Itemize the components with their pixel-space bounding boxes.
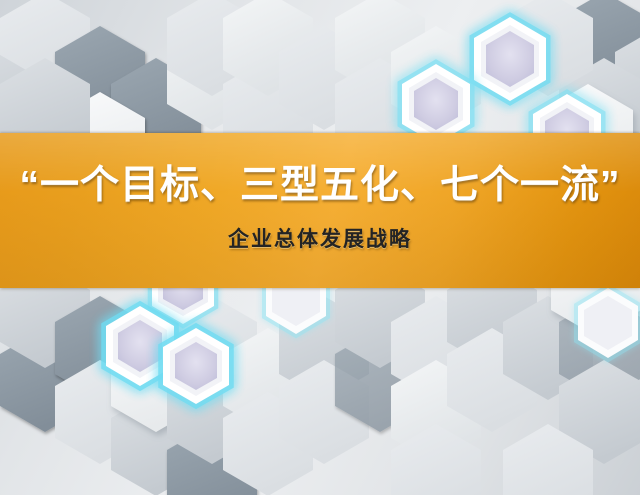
slide-subtitle: 企业总体发展战略 (228, 229, 412, 250)
slide-title: “一个目标、三型五化、七个一流” (19, 166, 620, 205)
glow-hex-lower-center (161, 326, 231, 406)
slide-canvas: “一个目标、三型五化、七个一流” 企业总体发展战略 (0, 0, 640, 495)
title-banner: “一个目标、三型五化、七个一流” 企业总体发展战略 (0, 133, 640, 288)
glow-hex-bottom-right (576, 286, 640, 360)
glow-hex-top-right (472, 15, 548, 103)
